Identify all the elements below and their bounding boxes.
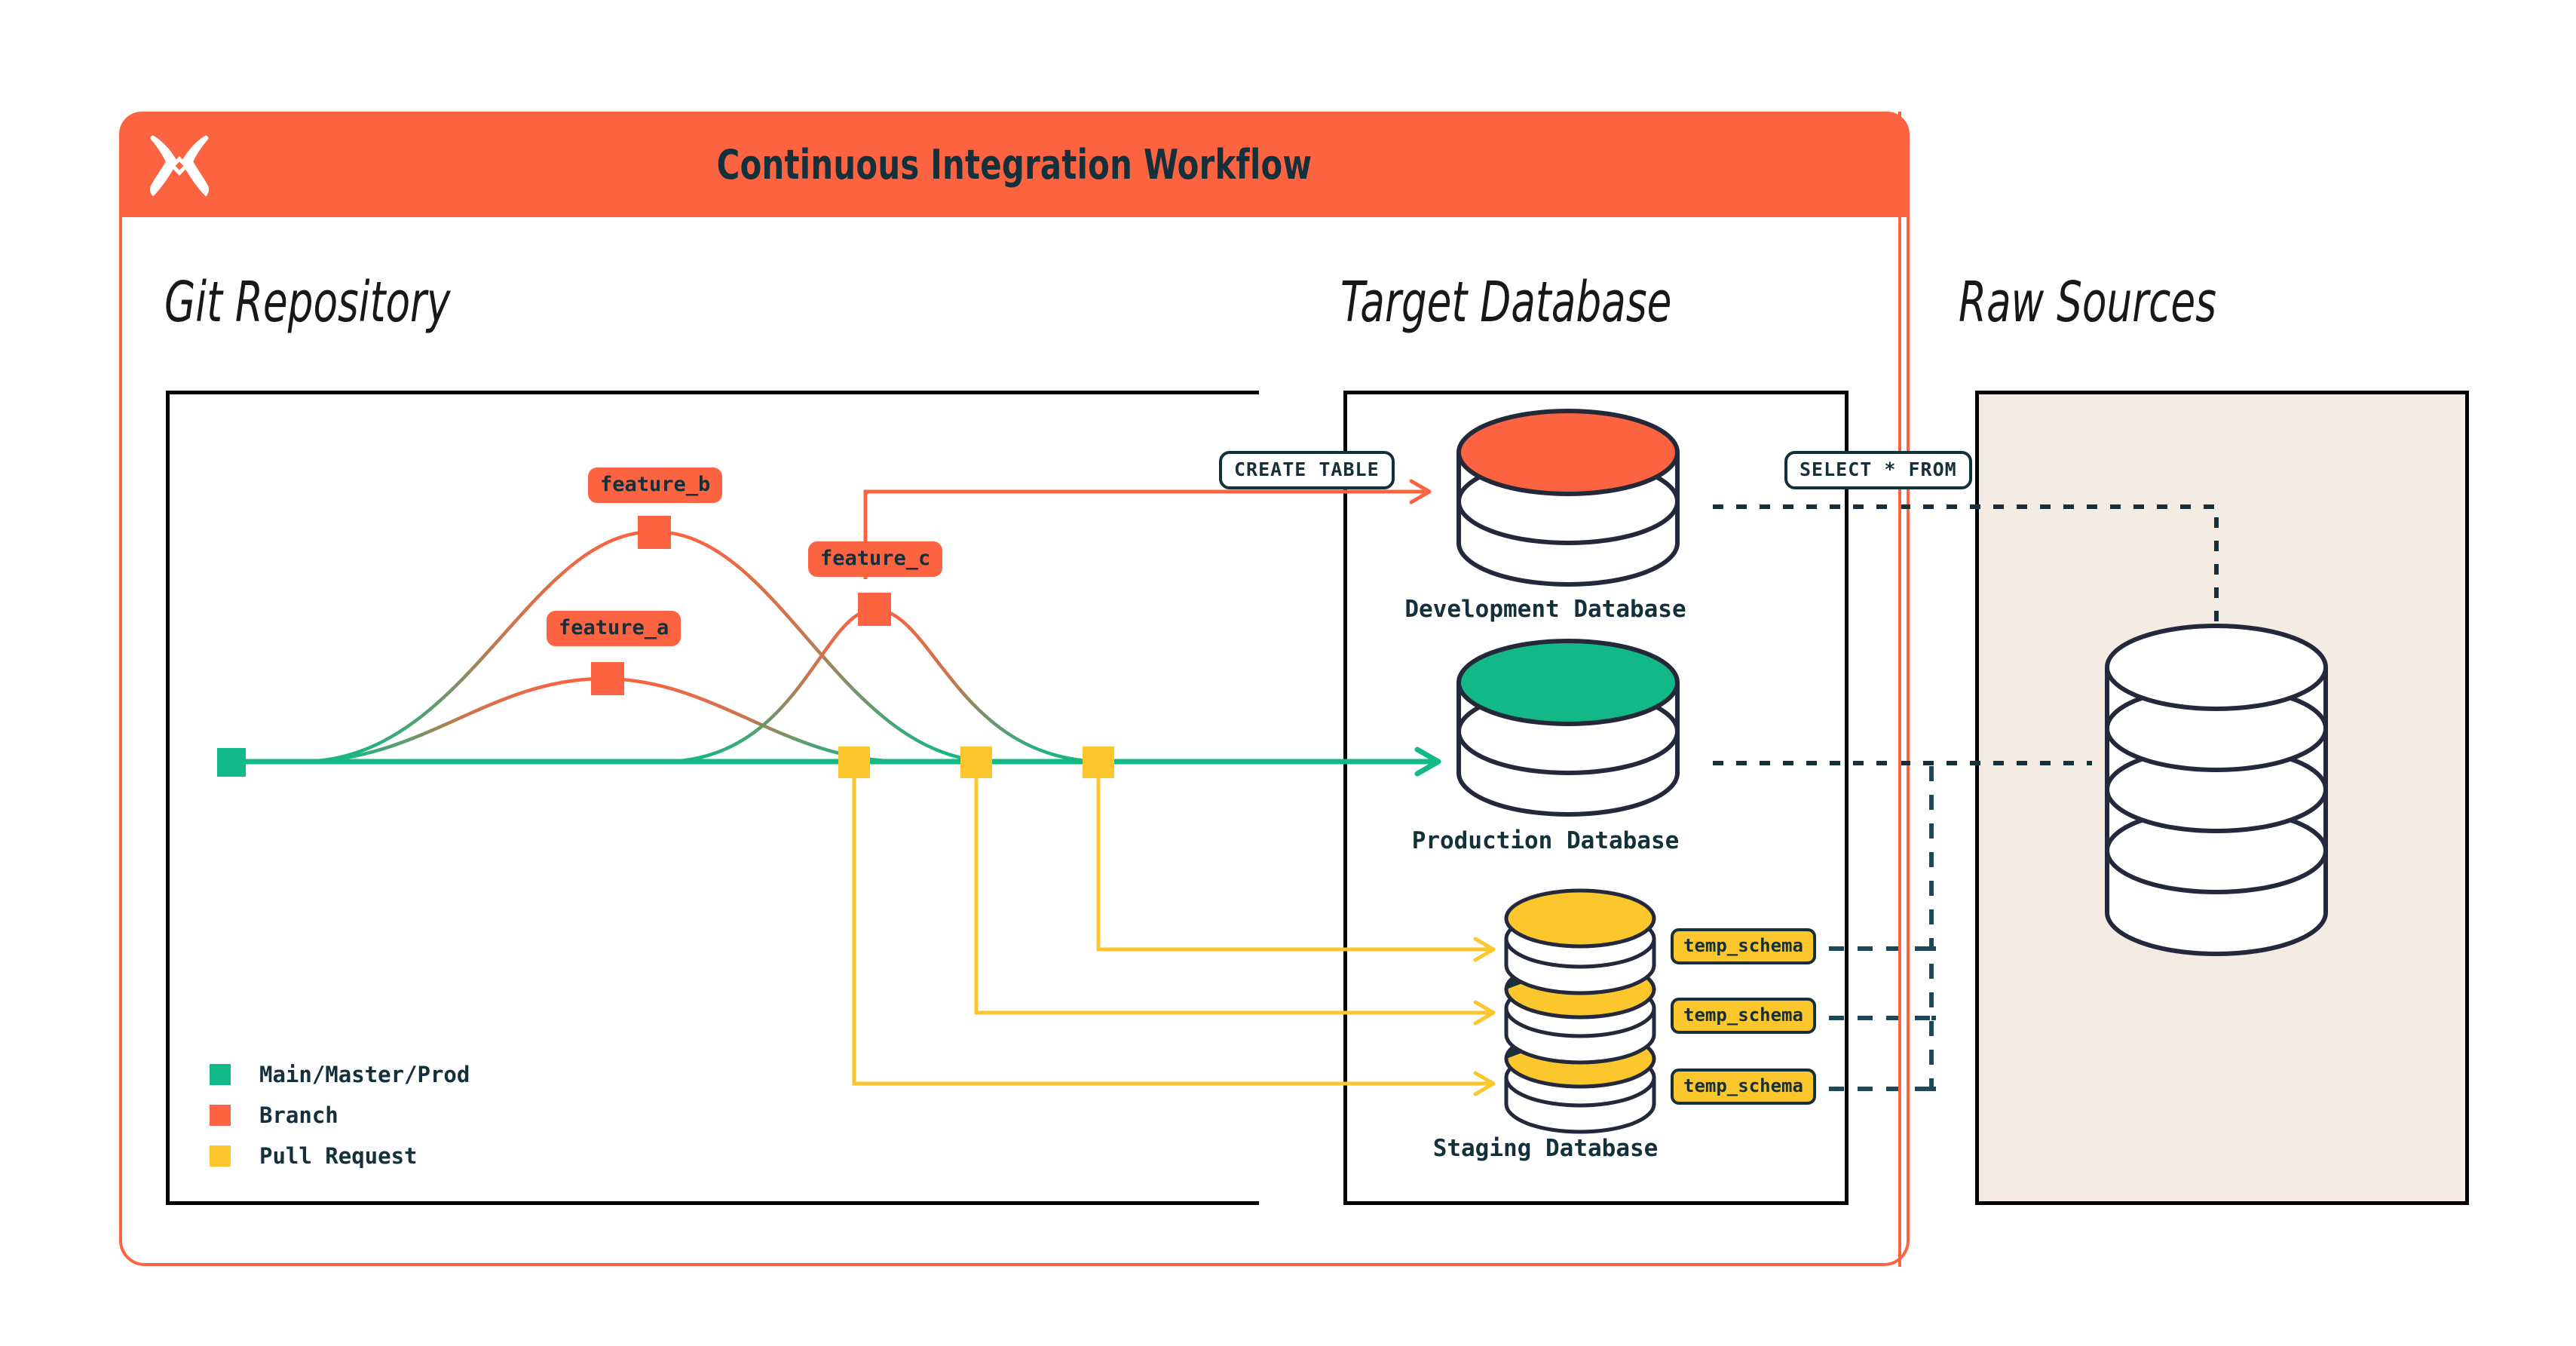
sql-badge-create-table[interactable]: CREATE TABLE (1219, 451, 1395, 489)
section-heading-git-repository: Git Repository (164, 270, 450, 335)
schema-label-temp-schema-1[interactable]: temp_schema (1671, 928, 1816, 964)
section-heading-raw-sources: Raw Sources (1959, 270, 2216, 335)
schema-label-temp-schema-3[interactable]: temp_schema (1671, 1069, 1816, 1105)
diagram-root: Continuous Integration Workflow Git Repo… (0, 0, 2576, 1346)
page-title: Continuous Integration Workflow (244, 112, 1784, 217)
legend-item-branch: Branch (210, 1095, 470, 1136)
legend: Main/Master/Prod Branch Pull Request (210, 1054, 470, 1176)
panel-raw-sources (1975, 391, 2469, 1205)
database-caption-staging: Staging Database (1282, 1135, 1809, 1162)
legend-label-main: Main/Master/Prod (259, 1064, 470, 1086)
dashed-line-temp-schema-3 (1931, 949, 1936, 1089)
dashed-line-temp-schema-1 (1931, 763, 1936, 949)
sql-badge-select-from[interactable]: SELECT * FROM (1784, 451, 1972, 489)
database-caption-production: Production Database (1282, 827, 1809, 854)
butterfly-x-logo-icon (145, 131, 214, 201)
branch-label-feature-c[interactable]: feature_c (808, 541, 942, 577)
legend-label-pull-request: Pull Request (259, 1145, 418, 1167)
legend-label-branch: Branch (259, 1105, 338, 1127)
section-heading-target-database: Target Database (1340, 270, 1671, 335)
database-caption-development: Development Database (1282, 596, 1809, 623)
legend-item-pull-request: Pull Request (210, 1136, 470, 1176)
legend-swatch-branch-icon (210, 1105, 231, 1126)
legend-item-main: Main/Master/Prod (210, 1054, 470, 1095)
branch-label-feature-b[interactable]: feature_b (588, 468, 722, 503)
schema-label-temp-schema-2[interactable]: temp_schema (1671, 998, 1816, 1034)
branch-label-feature-a[interactable]: feature_a (547, 611, 681, 646)
legend-swatch-main-icon (210, 1064, 231, 1085)
legend-swatch-pull-request-icon (210, 1145, 231, 1167)
workflow-card-header: Continuous Integration Workflow (119, 112, 1910, 217)
